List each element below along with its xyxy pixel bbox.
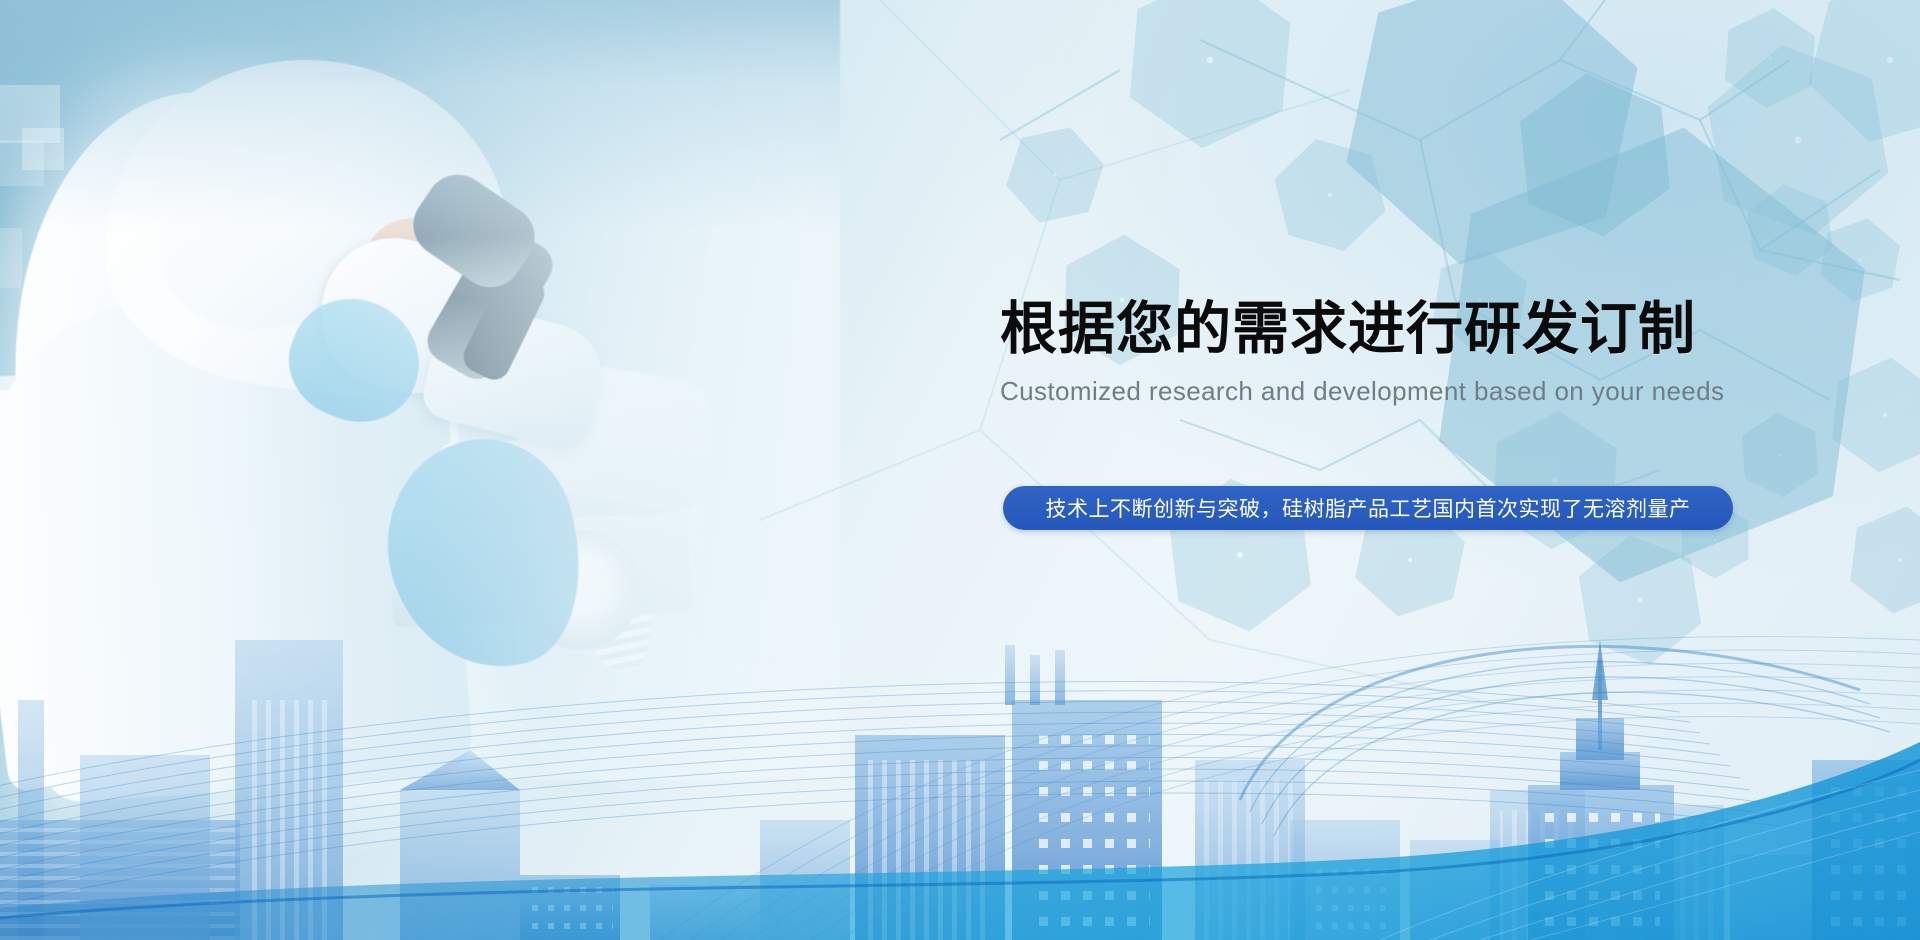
hero-banner: 根据您的需求进行研发订制 Customized research and dev… (0, 0, 1920, 940)
highlight-badge: 技术上不断创新与突破，硅树脂产品工艺国内首次实现了无溶剂量产 (1003, 486, 1733, 530)
page-subtitle: Customized research and development base… (1000, 376, 1760, 407)
highlight-badge-label: 技术上不断创新与突破，硅树脂产品工艺国内首次实现了无溶剂量产 (1046, 493, 1691, 523)
skyline-and-wave-decoration (0, 0, 1920, 940)
page-title: 根据您的需求进行研发订制 (1000, 300, 1760, 360)
hero-text-block: 根据您的需求进行研发订制 Customized research and dev… (1000, 300, 1760, 407)
